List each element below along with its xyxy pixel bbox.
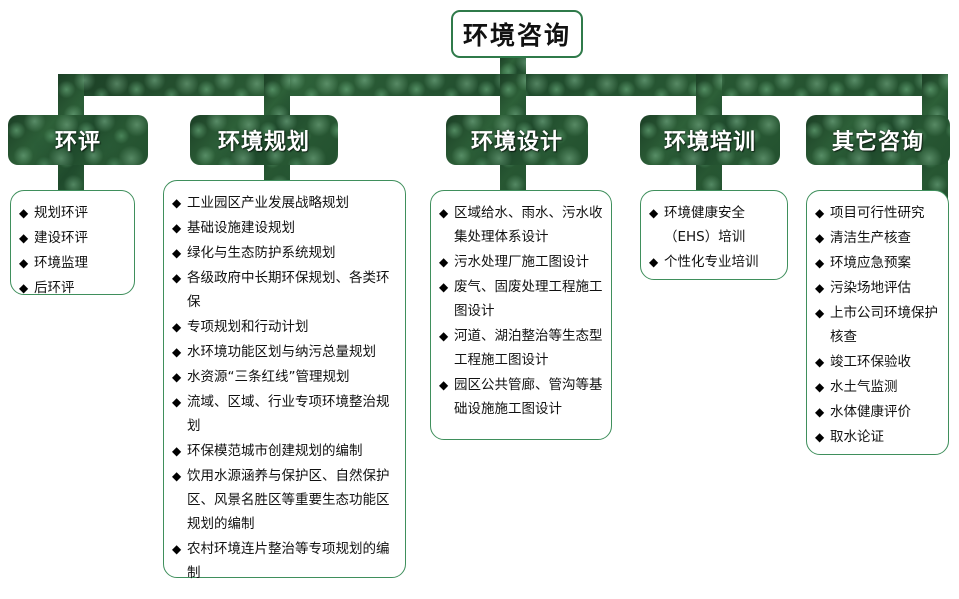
- list-item-label: 项目可行性研究: [830, 205, 925, 221]
- list-item-label: 废气、固废处理工程施工图设计: [454, 279, 603, 319]
- list-item-label: 环境监理: [34, 255, 88, 271]
- list-item[interactable]: ◆专项规划和行动计划: [172, 315, 397, 339]
- category-header-design-label: 环境设计: [471, 124, 563, 156]
- list-item-label: 水土气监测: [830, 379, 898, 395]
- diagram-canvas: 环境咨询 环评 环境规划 环境设计 环境培训 其它咨询 ◆规划环评 ◆建设环评 …: [0, 0, 959, 599]
- list-item-label: 水资源“三条红线”管理规划: [187, 369, 350, 385]
- diamond-bullet-icon: ◆: [172, 537, 181, 561]
- list-item-label: 环保模范城市创建规划的编制: [187, 443, 363, 459]
- list-item-label: 环境应急预案: [830, 255, 911, 271]
- list-item-label: 建设环评: [34, 230, 88, 246]
- list-item-label: 水体健康评价: [830, 404, 911, 420]
- detail-box-other: ◆项目可行性研究 ◆清洁生产核查 ◆环境应急预案 ◆污染场地评估 ◆上市公司环境…: [806, 190, 949, 455]
- diamond-bullet-icon: ◆: [172, 216, 181, 240]
- list-item[interactable]: ◆工业园区产业发展战略规划: [172, 191, 397, 215]
- list-item[interactable]: ◆个性化专业培训: [649, 250, 779, 274]
- diamond-bullet-icon: ◆: [19, 201, 28, 225]
- list-item-label: 绿化与生态防护系统规划: [187, 245, 336, 261]
- diamond-bullet-icon: ◆: [172, 365, 181, 389]
- list-item-label: 污水处理厂施工图设计: [454, 254, 589, 270]
- diamond-bullet-icon: ◆: [815, 301, 824, 325]
- diamond-bullet-icon: ◆: [815, 425, 824, 449]
- diamond-bullet-icon: ◆: [439, 201, 448, 225]
- diamond-bullet-icon: ◆: [172, 191, 181, 215]
- list-item-label: 规划环评: [34, 205, 88, 221]
- diamond-bullet-icon: ◆: [19, 226, 28, 250]
- list-item[interactable]: ◆后环评: [19, 276, 126, 300]
- list-item[interactable]: ◆废气、固废处理工程施工图设计: [439, 275, 603, 323]
- list-item-label: 饮用水源涵养与保护区、自然保护区、风景名胜区等重要生态功能区规划的编制: [187, 468, 390, 532]
- diamond-bullet-icon: ◆: [439, 275, 448, 299]
- diamond-bullet-icon: ◆: [815, 375, 824, 399]
- list-item-label: 农村环境连片整治等专项规划的编制: [187, 541, 390, 581]
- list-item-label: 水环境功能区划与纳污总量规划: [187, 344, 376, 360]
- detail-box-training: ◆环境健康安全（EHS）培训 ◆个性化专业培训: [640, 190, 788, 280]
- list-item[interactable]: ◆各级政府中长期环保规划、各类环保: [172, 266, 397, 314]
- list-item[interactable]: ◆流域、区域、行业专项环境整治规划: [172, 390, 397, 438]
- list-item[interactable]: ◆污水处理厂施工图设计: [439, 250, 603, 274]
- list-item-label: 后环评: [34, 280, 75, 296]
- list-item-label: 个性化专业培训: [664, 254, 759, 270]
- list-item-label: 区域给水、雨水、污水收集处理体系设计: [454, 205, 603, 245]
- list-item[interactable]: ◆绿化与生态防护系统规划: [172, 241, 397, 265]
- category-header-training-label: 环境培训: [664, 124, 756, 156]
- list-item[interactable]: ◆水体健康评价: [815, 400, 940, 424]
- list-item[interactable]: ◆环保模范城市创建规划的编制: [172, 439, 397, 463]
- diamond-bullet-icon: ◆: [19, 276, 28, 300]
- list-item-label: 专项规划和行动计划: [187, 319, 309, 335]
- list-item[interactable]: ◆规划环评: [19, 201, 126, 225]
- list-item[interactable]: ◆竣工环保验收: [815, 350, 940, 374]
- diamond-bullet-icon: ◆: [439, 250, 448, 274]
- list-item[interactable]: ◆园区公共管廊、管沟等基础设施施工图设计: [439, 373, 603, 421]
- list-item[interactable]: ◆基础设施建设规划: [172, 216, 397, 240]
- list-item-label: 环境健康安全（EHS）培训: [664, 205, 745, 245]
- detail-box-eia: ◆规划环评 ◆建设环评 ◆环境监理 ◆后环评: [10, 190, 135, 295]
- category-header-planning[interactable]: 环境规划: [190, 115, 338, 165]
- diamond-bullet-icon: ◆: [815, 400, 824, 424]
- list-item[interactable]: ◆建设环评: [19, 226, 126, 250]
- list-item[interactable]: ◆水土气监测: [815, 375, 940, 399]
- diamond-bullet-icon: ◆: [815, 276, 824, 300]
- diamond-bullet-icon: ◆: [649, 201, 658, 225]
- list-item-label: 流域、区域、行业专项环境整治规划: [187, 394, 390, 434]
- category-header-other-label: 其它咨询: [832, 124, 924, 156]
- category-header-eia[interactable]: 环评: [8, 115, 148, 165]
- list-item-label: 园区公共管廊、管沟等基础设施施工图设计: [454, 377, 603, 417]
- list-item-label: 各级政府中长期环保规划、各类环保: [187, 270, 390, 310]
- detail-list-eia: ◆规划环评 ◆建设环评 ◆环境监理 ◆后环评: [19, 201, 126, 300]
- root-node-label: 环境咨询: [463, 16, 571, 52]
- list-item[interactable]: ◆区域给水、雨水、污水收集处理体系设计: [439, 201, 603, 249]
- category-header-design[interactable]: 环境设计: [446, 115, 588, 165]
- detail-box-planning: ◆工业园区产业发展战略规划 ◆基础设施建设规划 ◆绿化与生态防护系统规划 ◆各级…: [163, 180, 406, 578]
- diamond-bullet-icon: ◆: [815, 226, 824, 250]
- detail-list-design: ◆区域给水、雨水、污水收集处理体系设计 ◆污水处理厂施工图设计 ◆废气、固废处理…: [439, 201, 603, 421]
- detail-list-planning: ◆工业园区产业发展战略规划 ◆基础设施建设规划 ◆绿化与生态防护系统规划 ◆各级…: [172, 191, 397, 585]
- diamond-bullet-icon: ◆: [172, 315, 181, 339]
- category-header-planning-label: 环境规划: [218, 124, 310, 156]
- diamond-bullet-icon: ◆: [172, 464, 181, 488]
- category-header-training[interactable]: 环境培训: [640, 115, 780, 165]
- diamond-bullet-icon: ◆: [172, 266, 181, 290]
- list-item[interactable]: ◆环境监理: [19, 251, 126, 275]
- diamond-bullet-icon: ◆: [19, 251, 28, 275]
- category-header-eia-label: 环评: [55, 124, 101, 156]
- diamond-bullet-icon: ◆: [439, 373, 448, 397]
- detail-list-other: ◆项目可行性研究 ◆清洁生产核查 ◆环境应急预案 ◆污染场地评估 ◆上市公司环境…: [815, 201, 940, 449]
- diamond-bullet-icon: ◆: [172, 439, 181, 463]
- diamond-bullet-icon: ◆: [172, 340, 181, 364]
- list-item[interactable]: ◆饮用水源涵养与保护区、自然保护区、风景名胜区等重要生态功能区规划的编制: [172, 464, 397, 536]
- list-item-label: 上市公司环境保护核查: [830, 305, 938, 345]
- list-item[interactable]: ◆污染场地评估: [815, 276, 940, 300]
- list-item[interactable]: ◆项目可行性研究: [815, 201, 940, 225]
- list-item-label: 清洁生产核查: [830, 230, 911, 246]
- list-item-label: 竣工环保验收: [830, 354, 911, 370]
- list-item-label: 工业园区产业发展战略规划: [187, 195, 349, 211]
- diamond-bullet-icon: ◆: [815, 251, 824, 275]
- diamond-bullet-icon: ◆: [815, 201, 824, 225]
- diamond-bullet-icon: ◆: [649, 250, 658, 274]
- category-header-other[interactable]: 其它咨询: [806, 115, 950, 165]
- list-item[interactable]: ◆清洁生产核查: [815, 226, 940, 250]
- detail-box-design: ◆区域给水、雨水、污水收集处理体系设计 ◆污水处理厂施工图设计 ◆废气、固废处理…: [430, 190, 612, 440]
- list-item[interactable]: ◆水环境功能区划与纳污总量规划: [172, 340, 397, 364]
- detail-list-training: ◆环境健康安全（EHS）培训 ◆个性化专业培训: [649, 201, 779, 274]
- list-item[interactable]: ◆环境应急预案: [815, 251, 940, 275]
- list-item[interactable]: ◆河道、湖泊整治等生态型工程施工图设计: [439, 324, 603, 372]
- list-item[interactable]: ◆环境健康安全（EHS）培训: [649, 201, 779, 249]
- root-node[interactable]: 环境咨询: [451, 10, 583, 58]
- list-item-label: 取水论证: [830, 429, 884, 445]
- diamond-bullet-icon: ◆: [815, 350, 824, 374]
- diamond-bullet-icon: ◆: [172, 390, 181, 414]
- list-item[interactable]: ◆上市公司环境保护核查: [815, 301, 940, 349]
- list-item[interactable]: ◆农村环境连片整治等专项规划的编制: [172, 537, 397, 585]
- diamond-bullet-icon: ◆: [439, 324, 448, 348]
- list-item[interactable]: ◆取水论证: [815, 425, 940, 449]
- list-item-label: 河道、湖泊整治等生态型工程施工图设计: [454, 328, 603, 368]
- list-item-label: 基础设施建设规划: [187, 220, 295, 236]
- list-item[interactable]: ◆水资源“三条红线”管理规划: [172, 365, 397, 389]
- list-item-label: 污染场地评估: [830, 280, 911, 296]
- diamond-bullet-icon: ◆: [172, 241, 181, 265]
